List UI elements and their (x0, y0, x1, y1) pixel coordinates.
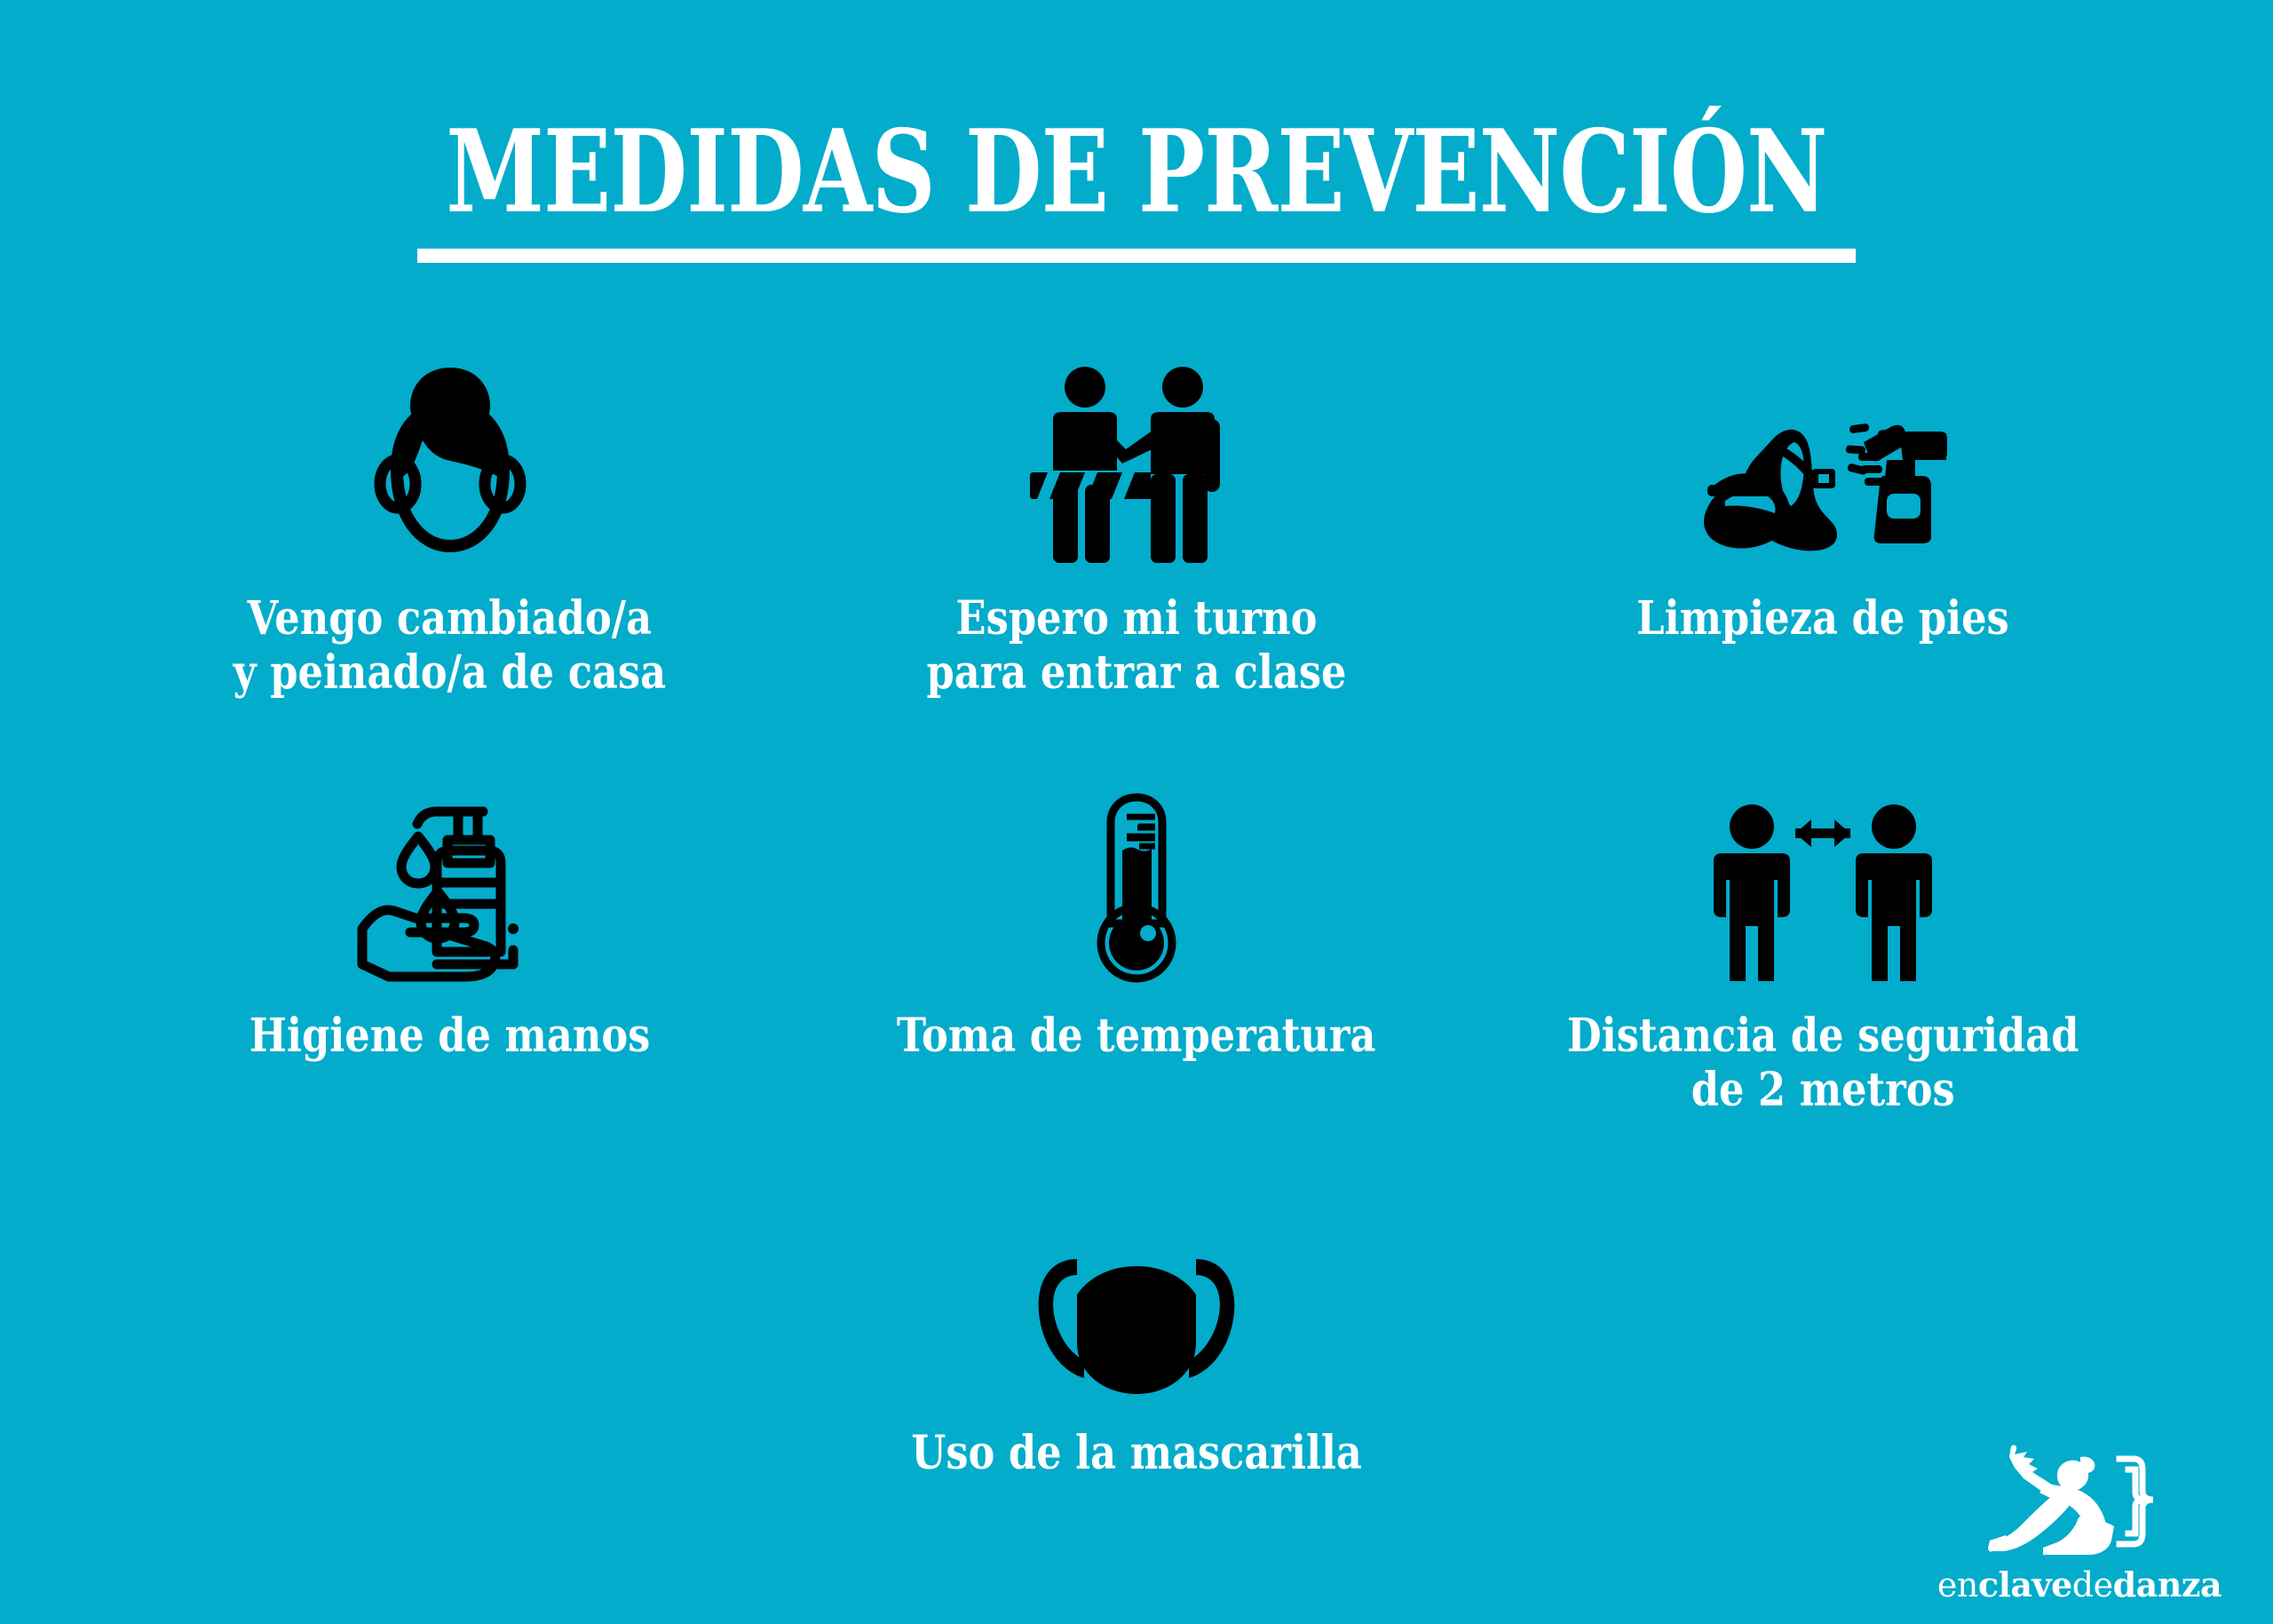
measure-label: Toma de temperatura (897, 1009, 1376, 1063)
measures-row-1: Vengo cambiado/a y peinado/a de casa (107, 346, 2166, 764)
measure-item-espero-mi-turno: Espero mi turno para entrar a clase (793, 346, 1479, 764)
measure-item-vengo-cambiado: Vengo cambiado/a y peinado/a de casa (107, 346, 793, 764)
hand-sanitizer-dispenser-icon (348, 764, 552, 986)
measure-label: Distancia de seguridad de 2 metros (1567, 1009, 2079, 1118)
page-title: MEDIDAS DE PREVENCIÓN (250, 115, 2024, 229)
woman-hair-bun-icon (361, 346, 539, 568)
measure-item-higiene-de-manos: Higiene de manos (107, 764, 793, 1181)
measure-item-toma-de-temperatura: Toma de temperatura (793, 764, 1479, 1181)
logo-wordmark: enclavededanza (1937, 1565, 2222, 1604)
measure-label: Limpieza de pies (1636, 591, 2009, 646)
face-mask-icon (1026, 1181, 1247, 1403)
measure-label: Vengo cambiado/a y peinado/a de casa (234, 591, 666, 701)
logo-word-en: en (1937, 1565, 1978, 1604)
measure-item-distancia-seguridad: Distancia de seguridad de 2 metros (1480, 764, 2166, 1181)
infographic-poster: { "theme": { "background": "#03accb", "f… (0, 0, 2273, 1624)
logo-word-danza: danza (2113, 1565, 2222, 1604)
measures-grid: Vengo cambiado/a y peinado/a de casa (107, 346, 2166, 1536)
measure-label: Espero mi turno para entrar a clase (926, 591, 1346, 701)
logo-word-clave: clave (1978, 1565, 2072, 1604)
measure-item-uso-mascarilla: Uso de la mascarilla (793, 1181, 1479, 1536)
logo-word-de: de (2072, 1565, 2113, 1604)
brand-logo: enclavededanza (1928, 1441, 2230, 1604)
measure-label: Higiene de manos (249, 1009, 651, 1063)
measure-item-limpieza-de-pies: Limpieza de pies (1480, 346, 2166, 764)
measure-label: Uso de la mascarilla (911, 1426, 1362, 1480)
social-distance-two-people-arrow-icon (1703, 764, 1943, 986)
measures-row-2: Higiene de manos (107, 764, 2166, 1181)
dancer-brace-icon (1984, 1441, 2175, 1561)
title-block: MEDIDAS DE PREVENCIÓN (0, 115, 2273, 263)
two-people-barrier-tape-icon (1021, 346, 1252, 568)
dance-shoes-spray-bottle-icon (1690, 346, 1956, 568)
measures-row-3: Uso de la mascarilla (107, 1181, 2166, 1536)
title-underline-bar (417, 249, 1856, 263)
thermometer-icon (1079, 764, 1194, 986)
